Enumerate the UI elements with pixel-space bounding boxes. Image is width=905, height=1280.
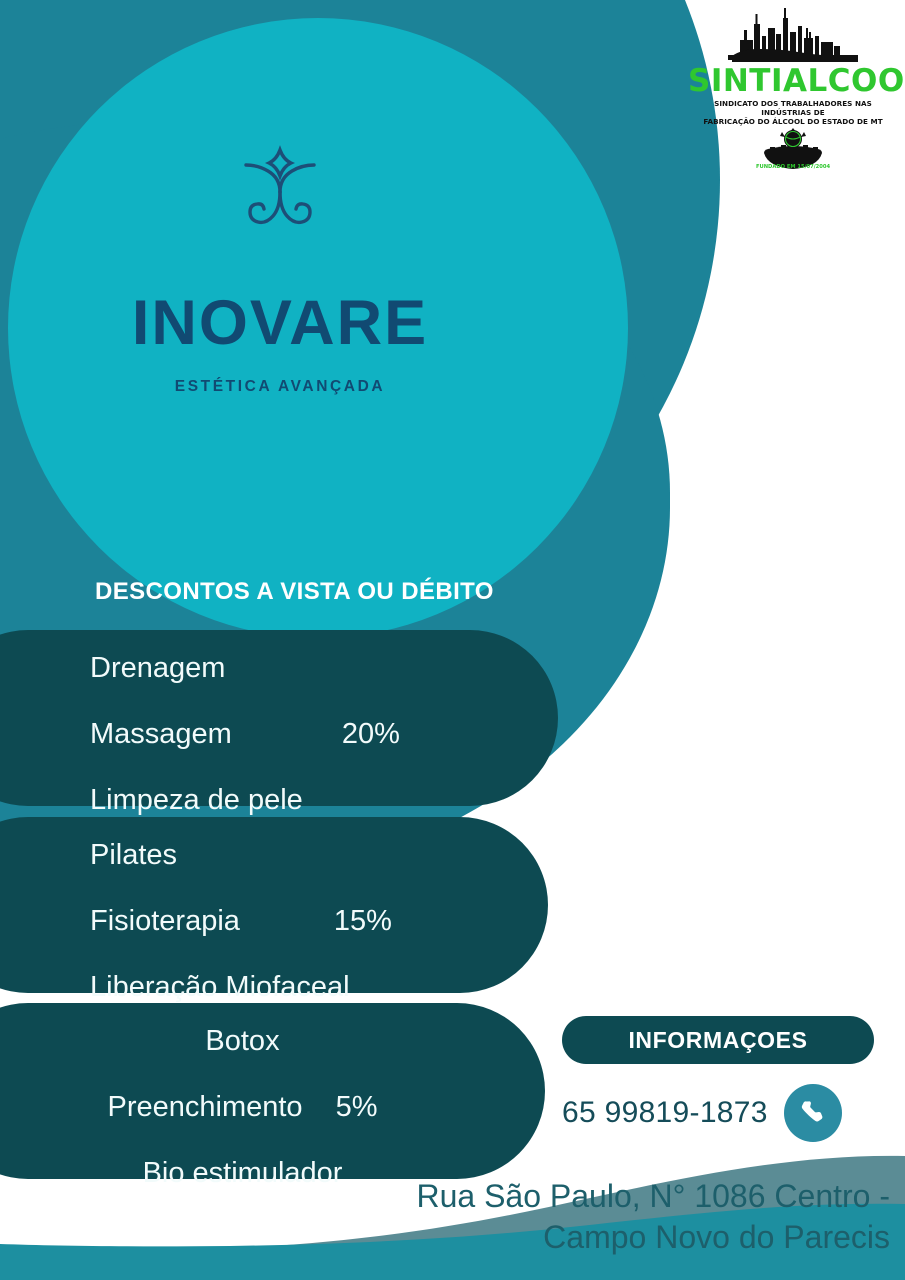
address-line-1: Rua São Paulo, N° 1086 Centro -: [416, 1178, 890, 1214]
gear-globe-icon: FUNDADO EM 15/07/2004: [750, 127, 836, 171]
sintialcool-logo: SINTIALCOOL SINDICATO DOS TRABALHADORES …: [688, 6, 898, 171]
gear-founded-text: FUNDADO EM 15/07/2004: [756, 164, 831, 170]
informacoes-label: INFORMAÇOES: [628, 1027, 807, 1054]
brand-block: INOVARE ESTÉTICA AVANÇADA: [0, 140, 560, 396]
discount-percent: 5%: [336, 1093, 378, 1122]
phone-number[interactable]: 65 99819-1873: [562, 1096, 768, 1130]
service-row: Preenchimento 5%: [0, 1083, 545, 1132]
address-line-2: Campo Novo do Parecis: [230, 1217, 890, 1258]
discount-card-20: Drenagem Massagem 20% Limpeza de pele: [0, 630, 558, 806]
brand-tagline: ESTÉTICA AVANÇADA: [0, 378, 560, 396]
service-name: Massagem: [90, 720, 232, 749]
service-name: Botox: [205, 1027, 279, 1056]
flyer-canvas: SINTIALCOOL SINDICATO DOS TRABALHADORES …: [0, 0, 905, 1280]
flourish-star-ornament-icon: [232, 140, 328, 244]
address-block: Rua São Paulo, N° 1086 Centro - Campo No…: [230, 1176, 890, 1258]
discount-percent: 15%: [334, 907, 392, 936]
service-name: Preenchimento: [108, 1093, 303, 1122]
discounts-heading: DESCONTOS A VISTA OU DÉBITO: [95, 578, 494, 606]
discount-percent: 20%: [342, 720, 400, 749]
phone-icon-badge[interactable]: [784, 1084, 842, 1142]
service-row: Fisioterapia 15%: [90, 897, 548, 946]
service-name: Drenagem: [90, 654, 225, 683]
discount-card-5: Botox Preenchimento 5% Bio estimulador: [0, 1003, 545, 1179]
phone-block[interactable]: 65 99819-1873: [562, 1082, 882, 1144]
service-name: Pilates: [90, 841, 177, 870]
service-name: Limpeza de pele: [90, 786, 303, 815]
informacoes-badge: INFORMAÇOES: [562, 1016, 874, 1064]
sintialcool-subtitle-line2: FABRICAÇÃO DO ÁLCOOL DO ESTADO DE MT: [703, 117, 882, 126]
service-row: Pilates: [90, 831, 548, 880]
brand-name: INOVARE: [0, 292, 560, 355]
service-row: Botox: [0, 1017, 545, 1066]
service-name: Liberação Miofaceal: [90, 973, 350, 1002]
service-row: Drenagem: [90, 644, 558, 693]
service-name: Fisioterapia: [90, 907, 240, 936]
gear-emblem: FUNDADO EM 15/07/2004: [750, 127, 836, 171]
industrial-refinery-skyline-icon: [718, 6, 868, 68]
discount-card-15: Pilates Fisioterapia 15% Liberação Miofa…: [0, 817, 548, 993]
service-row: Massagem 20%: [90, 710, 558, 759]
sintialcool-wordmark: SINTIALCOOL: [688, 66, 898, 97]
sintialcool-subtitle-line1: SINDICATO DOS TRABALHADORES NAS INDÚSTRI…: [714, 99, 872, 117]
phone-handset-icon: [798, 1098, 828, 1128]
sintialcool-subtitle: SINDICATO DOS TRABALHADORES NAS INDÚSTRI…: [688, 99, 898, 127]
